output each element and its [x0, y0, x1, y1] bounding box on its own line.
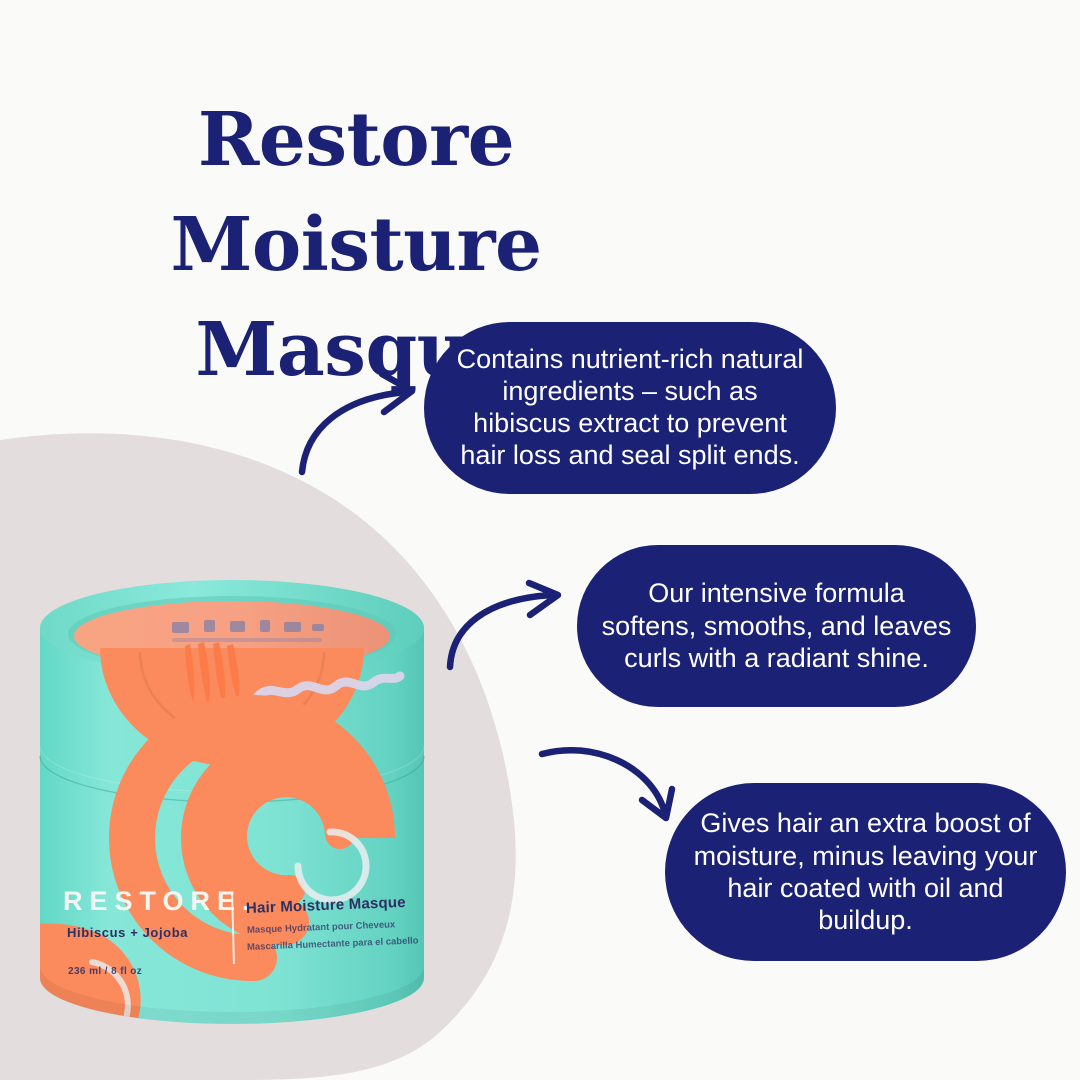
- curved-arrow-icon-2: [446, 583, 591, 673]
- package-product-line: RESTORE.: [63, 886, 257, 917]
- page-title-line-1: Restore Moisture: [0, 88, 712, 298]
- callout-bubble-3: Gives hair an extra boost of moisture, m…: [665, 783, 1066, 961]
- curved-arrow-icon-3: [538, 744, 698, 834]
- product-image: ™: [22, 560, 442, 1060]
- callout-bubble-1: Contains nutrient-rich natural ingredien…: [424, 322, 836, 494]
- callout-bubble-1-text: Contains nutrient-rich natural ingredien…: [450, 344, 810, 471]
- callout-bubble-3-text: Gives hair an extra boost of moisture, m…: [687, 807, 1044, 937]
- infographic-canvas: Restore Moisture Masque: [0, 0, 1080, 1080]
- callout-bubble-2-text: Our intensive formula softens, smooths, …: [601, 577, 952, 674]
- package-volume: 236 ml / 8 fl oz: [68, 966, 142, 977]
- package-ingredients: Hibiscus + Jojoba: [67, 925, 188, 940]
- callout-bubble-2: Our intensive formula softens, smooths, …: [577, 545, 976, 707]
